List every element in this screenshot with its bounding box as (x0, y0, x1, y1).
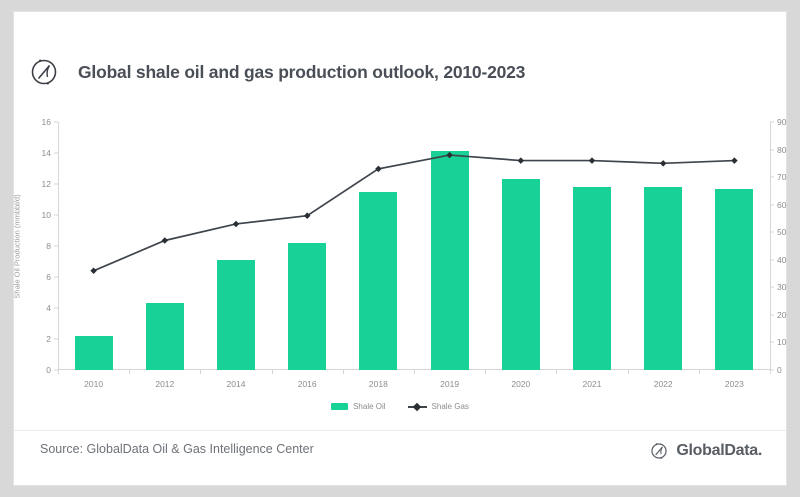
footer-logo-text: GlobalData. (676, 442, 762, 460)
x-axis-tick-mark (129, 370, 130, 374)
legend-swatch-icon (331, 403, 348, 410)
legend-item-shale-gas[interactable]: Shale Gas (408, 402, 469, 411)
bar-2022[interactable] (644, 187, 682, 370)
y-axis-left-tick-mark (54, 277, 58, 278)
x-axis-label-2010: 2010 (84, 379, 103, 389)
bar-2010[interactable] (75, 336, 113, 370)
x-axis-tick-mark (343, 370, 344, 374)
y-axis-right-tick-mark (770, 177, 774, 178)
bar-2014[interactable] (217, 260, 255, 370)
y-axis-right-tick-mark (770, 204, 774, 205)
x-axis-label-2016: 2016 (298, 379, 317, 389)
line-path-shale-gas (94, 155, 735, 271)
line-marker-2021[interactable] (589, 157, 596, 164)
legend-label-shale-oil: Shale Oil (353, 402, 385, 411)
y-axis-right-tick-mark (770, 342, 774, 343)
line-marker-2010[interactable] (90, 268, 97, 275)
y-axis-left-tick-mark (54, 215, 58, 216)
y-axis-left-tick-mark (54, 308, 58, 309)
page-title: Global shale oil and gas production outl… (78, 62, 525, 83)
legend-label-shale-gas: Shale Gas (432, 402, 469, 411)
line-marker-2020[interactable] (518, 157, 525, 164)
x-axis-tick-mark (770, 370, 771, 374)
y-axis-right-tick-mark (770, 122, 774, 123)
line-marker-2016[interactable] (304, 212, 311, 219)
bar-2021[interactable] (573, 187, 611, 370)
x-axis-label-2018: 2018 (369, 379, 388, 389)
globaldata-circle-icon (648, 440, 670, 462)
bar-2023[interactable] (715, 189, 753, 370)
y-axis-right-tick-mark (770, 149, 774, 150)
y-axis-left-tick-mark (54, 339, 58, 340)
bar-2019[interactable] (431, 151, 469, 370)
y-axis-left-tick-mark (54, 246, 58, 247)
y-axis-right-tick-mark (770, 259, 774, 260)
x-axis-label-2020: 2020 (511, 379, 530, 389)
line-marker-2018[interactable] (375, 166, 382, 173)
x-axis-label-2012: 2012 (155, 379, 174, 389)
x-axis-label-2023: 2023 (725, 379, 744, 389)
x-axis-label-2022: 2022 (654, 379, 673, 389)
line-marker-2012[interactable] (162, 237, 169, 244)
bar-2016[interactable] (288, 243, 326, 370)
y-axis-left-label: Shale Oil Production (mmbbl/d) (10, 122, 24, 370)
line-marker-2022[interactable] (660, 160, 667, 167)
footer-logo: GlobalData. (648, 440, 762, 462)
y-axis-right-line (770, 122, 771, 370)
x-axis-tick-mark (272, 370, 273, 374)
chart-card: Global shale oil and gas production outl… (14, 12, 786, 485)
chart-header: Global shale oil and gas production outl… (14, 12, 786, 74)
x-axis-tick-mark (200, 370, 201, 374)
source-text: Source: GlobalData Oil & Gas Intelligenc… (40, 442, 314, 456)
bar-2018[interactable] (359, 192, 397, 370)
globaldata-circle-icon (26, 54, 62, 90)
x-axis-tick-mark (58, 370, 59, 374)
x-axis-tick-mark (485, 370, 486, 374)
x-axis-label-2014: 2014 (227, 379, 246, 389)
line-marker-2014[interactable] (233, 221, 240, 228)
legend-item-shale-oil[interactable]: Shale Oil (331, 402, 385, 411)
y-axis-right-tick-mark (770, 287, 774, 288)
x-axis-label-2019: 2019 (440, 379, 459, 389)
bar-2020[interactable] (502, 179, 540, 370)
y-axis-left-tick-mark (54, 184, 58, 185)
plot-area: 0246810121416 0102030405060708090 201020… (58, 122, 770, 370)
legend-line-icon (408, 403, 427, 410)
x-axis-tick-mark (556, 370, 557, 374)
x-axis-tick-mark (628, 370, 629, 374)
y-axis-right-tick-mark (770, 232, 774, 233)
y-axis-left-tick-mark (54, 153, 58, 154)
x-axis-tick-mark (699, 370, 700, 374)
y-axis-left-label-text: Shale Oil Production (mmbbl/d) (13, 194, 22, 298)
x-axis-label-2021: 2021 (583, 379, 602, 389)
y-axis-left-tick-mark (54, 122, 58, 123)
line-marker-2023[interactable] (731, 157, 738, 164)
footer-divider (14, 430, 786, 431)
bar-2012[interactable] (146, 303, 184, 370)
y-axis-right-tick-mark (770, 314, 774, 315)
x-axis-tick-mark (414, 370, 415, 374)
chart-legend: Shale Oil Shale Gas (14, 402, 786, 411)
